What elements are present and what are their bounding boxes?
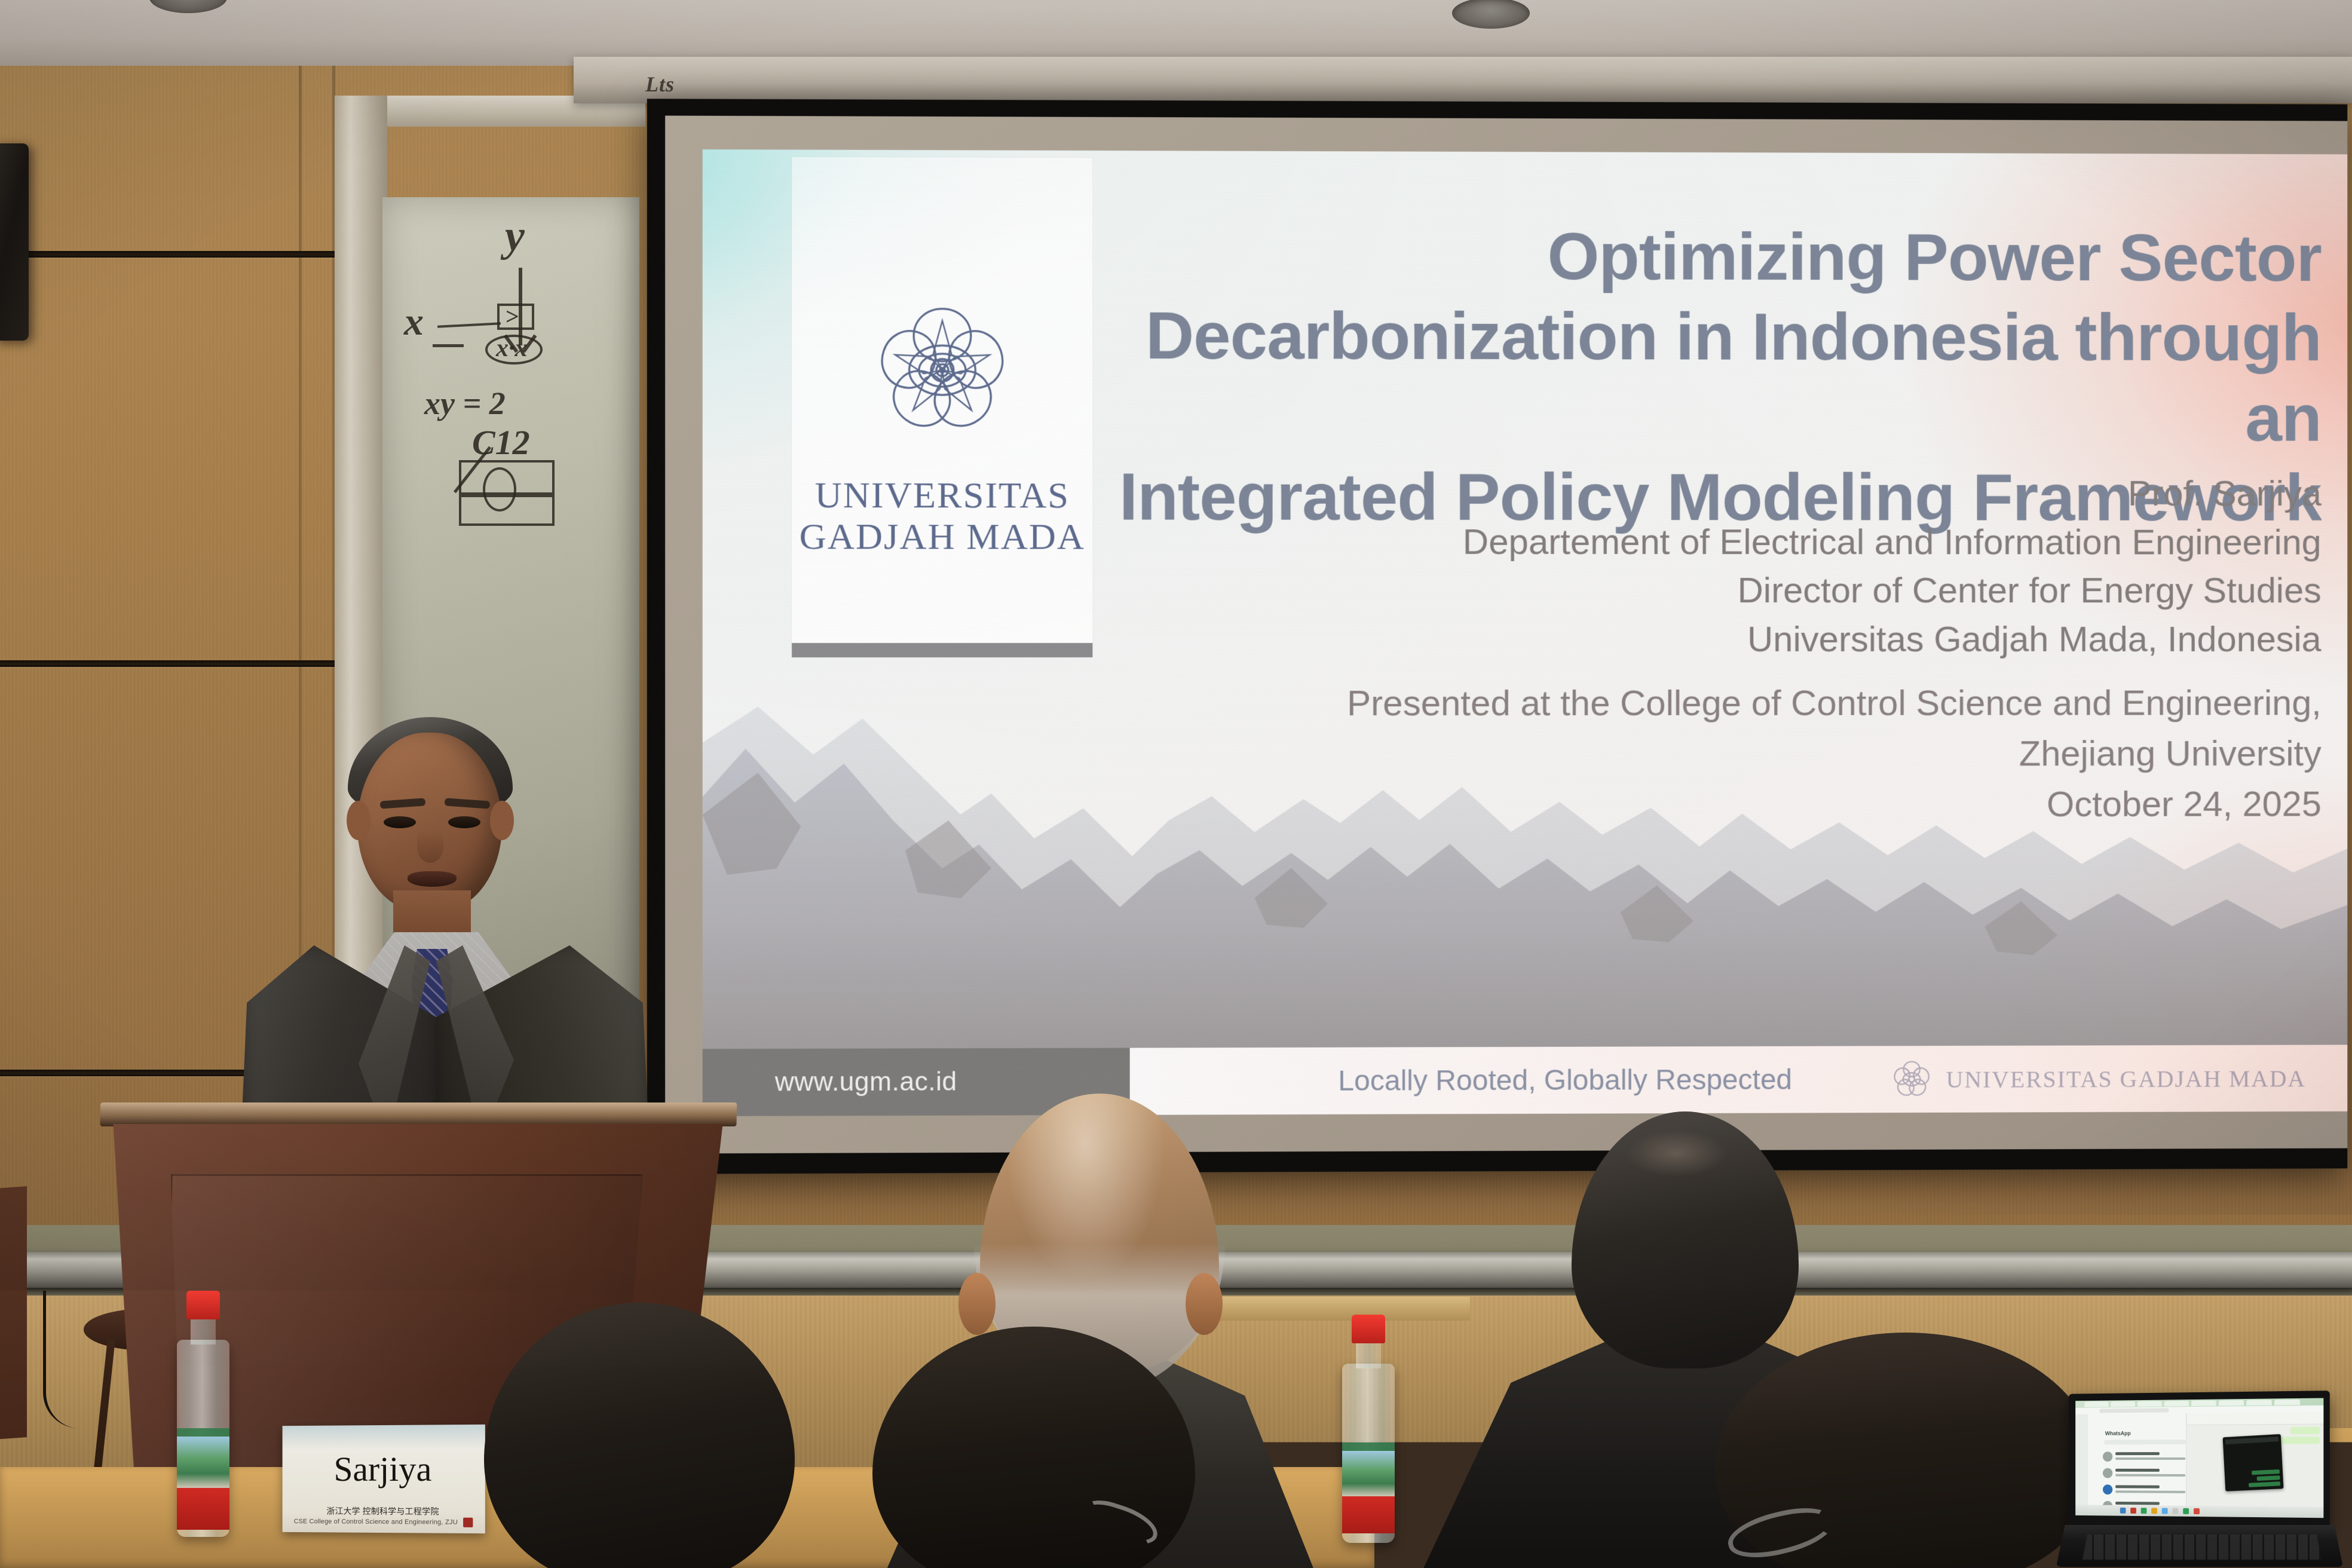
slide-venue-block: Presented at the College of Control Scie… (1094, 678, 2321, 831)
browser-tab[interactable] (2084, 1402, 2108, 1407)
bottle-neck (1356, 1341, 1381, 1368)
chat-name (2115, 1502, 2160, 1505)
screen-mat: UNIVERSITAS GADJAH MADA Optimizing Power… (665, 116, 2347, 1154)
slide-affiliation-line-3: Universitas Gadjah Mada, Indonesia (1094, 615, 2321, 664)
slide-footer-logo: UNIVERSITAS GADJAH MADA (1890, 1056, 2306, 1101)
taskbar-icon[interactable] (2130, 1508, 2136, 1514)
ugm-flower-emblem-icon (867, 295, 1018, 445)
browser-tab[interactable] (2219, 1400, 2244, 1406)
taskbar-icon[interactable] (2162, 1508, 2168, 1514)
whiteboard-note-equation: xy = 2 (424, 387, 506, 419)
list-item[interactable] (2103, 1516, 2195, 1518)
presenter-eye (448, 816, 480, 828)
whiteboard-note-xx: x·x (496, 336, 528, 361)
bottle-cap (1352, 1315, 1385, 1343)
slide-logo-card: UNIVERSITAS GADJAH MADA (792, 157, 1092, 643)
audience-center-foreground (825, 1327, 1243, 1568)
water-bottle (1339, 1315, 1398, 1568)
taskbar-icon[interactable] (2172, 1508, 2178, 1514)
presenter-mouth (408, 871, 457, 887)
browser-tab[interactable] (2191, 1401, 2216, 1406)
whatsapp-title: WhatsApp (2105, 1431, 2131, 1437)
browser-tab[interactable] (2246, 1400, 2272, 1406)
audience-head-highlight (1625, 1129, 1727, 1177)
browser-tab[interactable] (2274, 1399, 2300, 1405)
bottle-label-red-band (177, 1488, 229, 1530)
conversation-header (2187, 1412, 2323, 1425)
presentation-slide: UNIVERSITAS GADJAH MADA Optimizing Power… (703, 149, 2348, 1116)
chat-preview (2115, 1490, 2185, 1493)
slide-title-line-2: Decarbonization in Indonesia through an (1094, 296, 2321, 458)
browser-tab[interactable] (2137, 1401, 2162, 1407)
bottle-cap (186, 1291, 220, 1319)
wall-groove (0, 660, 382, 667)
slide-venue-line-3: October 24, 2025 (1094, 779, 2321, 831)
slide-affiliation-line-2: Director of Center for Energy Studies (1094, 566, 2321, 615)
projector-screen-housing (574, 57, 2352, 103)
whiteboard-note-x: x (404, 302, 424, 342)
presenter-eye (384, 816, 416, 828)
water-bottle (173, 1291, 233, 1568)
chat-preview (2115, 1457, 2185, 1460)
cable (43, 1291, 85, 1428)
bottle-label-red-band (1342, 1496, 1395, 1533)
podium-side-block (0, 1186, 27, 1443)
laptop-keyboard[interactable] (2082, 1535, 2322, 1560)
media-bubble (2257, 1475, 2280, 1481)
whiteboard-note-c12: C12 (472, 425, 530, 460)
message-bubble (2290, 1427, 2320, 1435)
slide-venue-line-1: Presented at the College of Control Scie… (1094, 678, 2321, 729)
taskbar-icon[interactable] (2194, 1508, 2200, 1514)
bottle-label-green-band (1342, 1443, 1395, 1451)
media-header (2225, 1437, 2278, 1444)
presenter-ear (347, 801, 370, 840)
bottle-neck (191, 1317, 216, 1345)
laptop-lid: WhatsApp (2069, 1391, 2330, 1532)
ugm-flower-emblem-icon (1890, 1058, 1933, 1101)
list-item[interactable] (2103, 1450, 2195, 1463)
taskbar-icon[interactable] (2183, 1508, 2189, 1514)
slide-venue-line-2: Zhejiang University (1094, 728, 2321, 780)
whatsapp-search-input[interactable] (2104, 1440, 2191, 1444)
chat-name (2115, 1469, 2160, 1472)
presenter-person (257, 711, 675, 1129)
bottle-label-green-band (177, 1428, 229, 1437)
conference-photo-scene: y x > x·x xy = 2 C12 Lts (0, 0, 2352, 1568)
list-item[interactable] (2103, 1467, 2195, 1480)
laptop[interactable]: WhatsApp (2065, 1392, 2345, 1568)
taskbar-icon[interactable] (2141, 1508, 2147, 1514)
audience-ear (958, 1273, 996, 1335)
taskbar-icon[interactable] (2120, 1508, 2126, 1514)
projector-screen: UNIVERSITAS GADJAH MADA Optimizing Power… (647, 99, 2348, 1174)
media-bubble (2249, 1481, 2280, 1487)
media-bubble (2252, 1469, 2280, 1475)
avatar (2103, 1451, 2112, 1462)
slide-affiliation-line-1: Departement of Electrical and Informatio… (1094, 517, 2321, 566)
audience-head (484, 1303, 795, 1568)
projector-brand-label: Lts (645, 72, 675, 97)
media-message[interactable] (2223, 1434, 2284, 1492)
podium-top-surface (100, 1102, 737, 1126)
presenter-nose (417, 831, 443, 863)
whatsapp-conversation[interactable] (2187, 1412, 2323, 1507)
circle-mark-icon (483, 467, 516, 512)
avatar (2103, 1517, 2112, 1518)
bottle-label-image (1342, 1451, 1395, 1496)
audience-left-foreground (412, 1303, 890, 1568)
avatar (2103, 1484, 2112, 1494)
whatsapp-rail[interactable] (2075, 1414, 2088, 1505)
list-item[interactable] (2103, 1483, 2195, 1497)
slide-footer-url: www.ugm.ac.id (775, 1067, 957, 1097)
chat-preview (2115, 1474, 2185, 1477)
browser-url-text[interactable] (2099, 1408, 2169, 1413)
ugm-wordmark: UNIVERSITAS GADJAH MADA (792, 475, 1092, 559)
right-arrow-icon (437, 322, 501, 328)
whiteboard-note-y: y (505, 214, 525, 258)
ugm-wordmark-line2: GADJAH MADA (800, 517, 1085, 558)
audience-ear (1186, 1273, 1223, 1335)
slide-footer-tagline: Locally Rooted, Globally Respected (1338, 1063, 1792, 1097)
taskbar-icon[interactable] (2151, 1508, 2157, 1514)
slide-title-line-1: Optimizing Power Sector (1094, 215, 2321, 298)
slide-footer-logo-text: UNIVERSITAS GADJAH MADA (1946, 1064, 2306, 1093)
presenter-ear (490, 801, 514, 840)
underline-icon (433, 344, 464, 347)
wall-speaker-icon (0, 143, 29, 341)
greater-than-icon: > (505, 305, 519, 329)
slide-author-block: Prof. Sarjiya Departement of Electrical … (1094, 468, 2321, 663)
wall-groove (0, 251, 382, 258)
slide-presenter-name: Prof. Sarjiya (1094, 468, 2321, 517)
ugm-wordmark-line1: UNIVERSITAS (815, 475, 1070, 516)
chat-name (2115, 1452, 2160, 1455)
laptop-screen[interactable]: WhatsApp (2075, 1398, 2323, 1518)
browser-tab[interactable] (2111, 1401, 2135, 1407)
chat-name (2115, 1485, 2160, 1488)
bottle-label-image (177, 1437, 229, 1488)
avatar (2103, 1468, 2112, 1478)
whatsapp-chat-list[interactable]: WhatsApp (2088, 1413, 2186, 1506)
browser-tab[interactable] (2164, 1401, 2189, 1406)
windows-taskbar[interactable] (2075, 1505, 2323, 1518)
logo-card-underbar (792, 643, 1092, 657)
